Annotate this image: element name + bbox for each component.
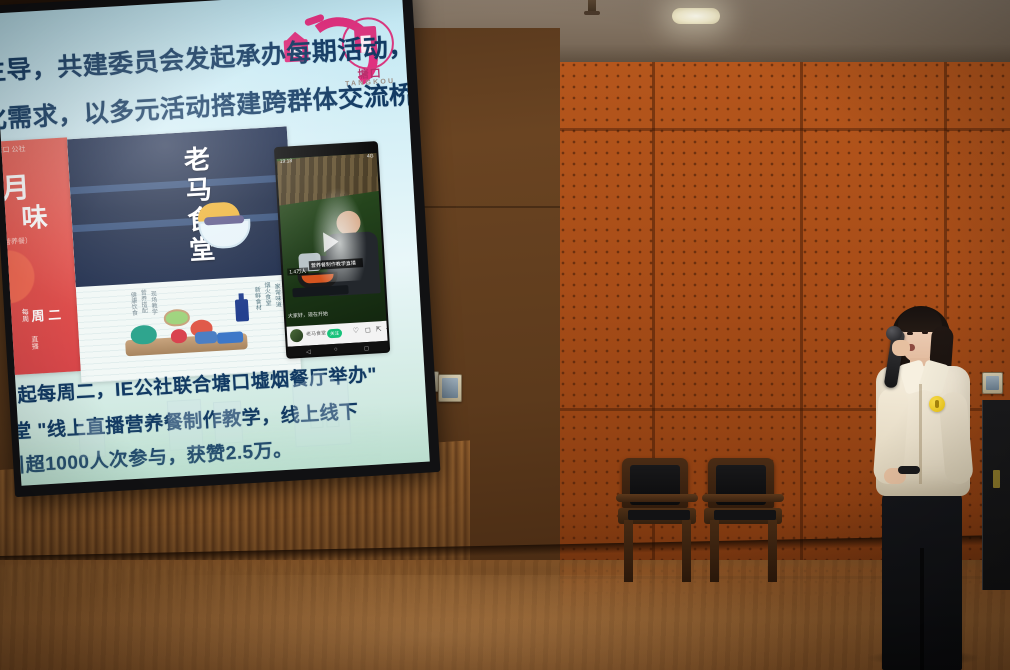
status-network: 4G bbox=[367, 153, 374, 159]
wall-seam-horizontal-1 bbox=[560, 128, 1010, 131]
chair-seat-cushion bbox=[628, 510, 690, 520]
chair-seat-cushion bbox=[714, 510, 776, 520]
canteen-note-4: 烟火食堂 bbox=[262, 282, 271, 306]
wall-data-plate[interactable] bbox=[438, 374, 462, 402]
wall-socket-right[interactable] bbox=[982, 372, 1003, 394]
canteen-note-2: 营养搭配 bbox=[138, 289, 147, 313]
pants-seam bbox=[920, 548, 924, 670]
chair-leg bbox=[768, 520, 777, 582]
more-icon[interactable]: ⋯ bbox=[382, 324, 391, 333]
chair-leg bbox=[710, 520, 719, 582]
red-poster-side-note-1: 每周 bbox=[19, 308, 30, 323]
floor-light-reflection bbox=[0, 575, 1010, 670]
watermark-roof-1 bbox=[296, 369, 341, 388]
chair-leg bbox=[682, 520, 691, 582]
presentation-clicker[interactable] bbox=[898, 466, 920, 474]
play-icon[interactable] bbox=[323, 232, 339, 253]
blue-dish-icon bbox=[195, 331, 218, 344]
microphone-head bbox=[886, 326, 902, 341]
hand-holding-microphone bbox=[892, 340, 910, 356]
chair-armrest bbox=[702, 494, 784, 502]
dark-cabinet bbox=[982, 400, 1010, 590]
wall-seam-vertical-1 bbox=[652, 62, 655, 622]
red-poster-date: 周 二 bbox=[31, 304, 62, 325]
stream-author: 老马食堂 bbox=[306, 329, 326, 337]
canteen-note-1: 健康饮食 bbox=[128, 292, 137, 316]
canteen-note-5: 新鲜食材 bbox=[252, 286, 261, 310]
red-poster-side-note-2: 直播 bbox=[29, 335, 40, 350]
chair-armrest bbox=[616, 494, 698, 502]
ceiling-light bbox=[672, 8, 720, 24]
status-time: 19:18 bbox=[280, 158, 293, 165]
chair-leg bbox=[624, 520, 633, 582]
red-poster-char-2: 味 bbox=[20, 197, 48, 235]
wall-seam-vertical-2 bbox=[800, 62, 803, 622]
status-badge bbox=[929, 396, 945, 412]
village-watermark bbox=[14, 332, 430, 486]
viewer-count: 1.4万人 bbox=[287, 267, 308, 275]
slide-panel-phone-screenshot: 营养餐制作教学直播 19:18 4G 1.4万人 大家好，现在开始 老马食堂 关… bbox=[274, 141, 390, 359]
cabinet-label bbox=[993, 470, 1000, 488]
slide-surface: 塘口 TANGKOU 主导，共建委员会发起承办每期活动， 化需求，以多元活动搭建… bbox=[0, 0, 430, 486]
canteen-note-6: 家常味道 bbox=[272, 283, 281, 307]
eye-left bbox=[907, 332, 913, 335]
sauce-bottle-icon bbox=[235, 299, 249, 322]
screenshot-root: 塘口 TANGKOU 主导，共建委员会发起承办每期活动， 化需求，以多元活动搭建… bbox=[0, 0, 1010, 670]
female-presenter bbox=[862, 300, 982, 670]
projection-screen[interactable]: 塘口 TANGKOU 主导，共建委员会发起承办每期活动， 化需求，以多元活动搭建… bbox=[0, 0, 440, 497]
fire-sprinkler-icon bbox=[588, 0, 596, 14]
livestream-video: 营养餐制作教学直播 bbox=[277, 153, 387, 327]
canteen-note-3: 现场教学 bbox=[148, 290, 157, 314]
red-poster-brand: 塘口 公社 bbox=[0, 146, 26, 156]
